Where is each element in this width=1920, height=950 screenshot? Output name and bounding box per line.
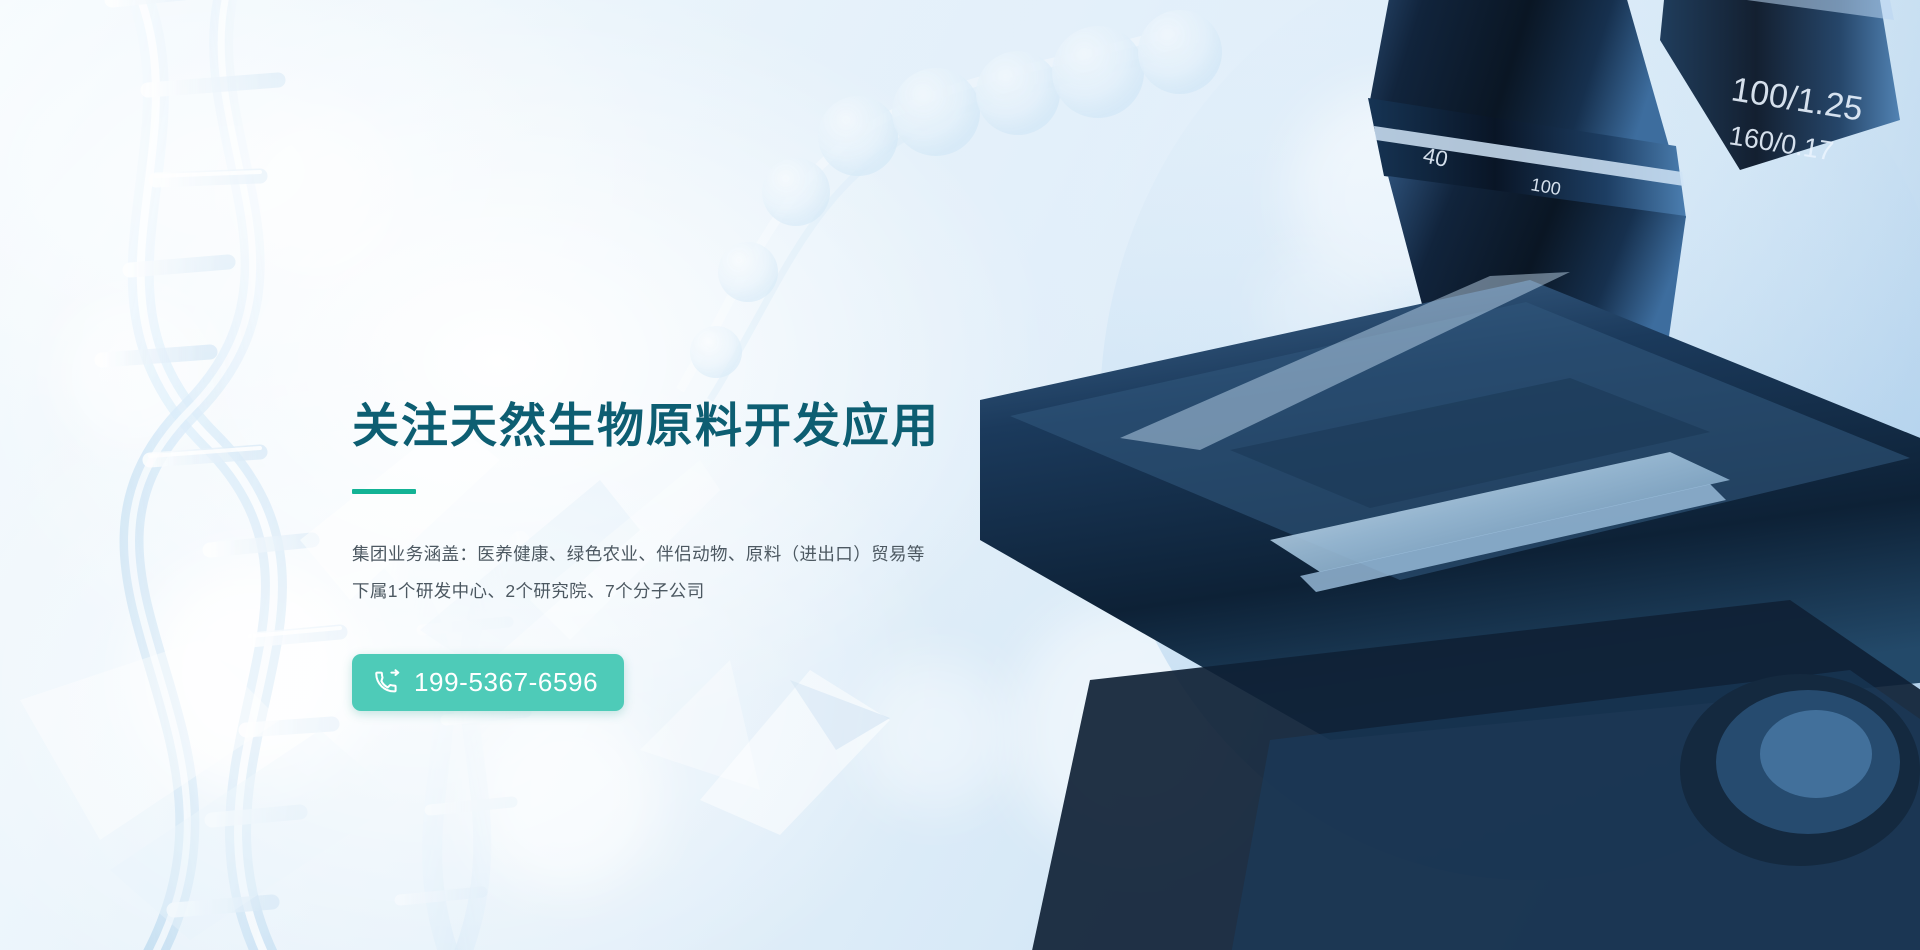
svg-text:100: 100 <box>1529 174 1562 199</box>
hero-banner: 100/1.25 160/0.17 40 100 <box>0 0 1920 950</box>
svg-text:160/0.17: 160/0.17 <box>1727 120 1836 166</box>
svg-text:40: 40 <box>1421 142 1450 172</box>
molecule-chain-icon <box>620 0 1240 420</box>
microscope-icon: 100/1.25 160/0.17 40 100 <box>970 0 1920 950</box>
bokeh-blob <box>1260 250 1380 370</box>
bokeh-blob <box>470 700 660 890</box>
phone-number-label: 199-5367-6596 <box>414 667 598 698</box>
bokeh-blob <box>140 560 370 790</box>
bokeh-blob <box>230 110 400 280</box>
phone-cta-button[interactable]: 199-5367-6596 <box>352 654 624 711</box>
subtitle-line-1: 集团业务涵盖：医养健康、绿色农业、伴侣动物、原料（进出口）贸易等 <box>352 536 1112 573</box>
bokeh-blob <box>60 300 210 450</box>
page-title: 关注天然生物原料开发应用 <box>352 398 1112 453</box>
svg-text:100/1.25: 100/1.25 <box>1729 70 1866 128</box>
hero-subtitle: 集团业务涵盖：医养健康、绿色农业、伴侣动物、原料（进出口）贸易等 下属1个研发中… <box>352 536 1112 610</box>
bokeh-blob <box>1420 60 1550 190</box>
subtitle-line-2: 下属1个研发中心、2个研究院、7个分子公司 <box>352 573 1112 610</box>
title-accent-rule <box>352 489 416 494</box>
bokeh-blob <box>1290 90 1500 300</box>
phone-forwarded-icon <box>374 669 401 696</box>
hero-content: 关注天然生物原料开发应用 集团业务涵盖：医养健康、绿色农业、伴侣动物、原料（进出… <box>352 398 1112 711</box>
